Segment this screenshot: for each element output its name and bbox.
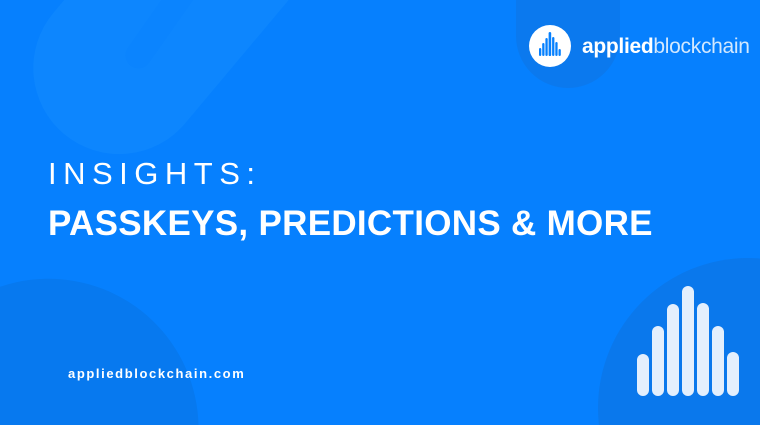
bar-chart-pyramid-icon <box>637 286 738 396</box>
decor-bar-1 <box>637 354 649 396</box>
decor-bar-3 <box>667 304 679 396</box>
eyebrow-label: INSIGHTS: <box>48 158 653 191</box>
brand-wordmark-bold: applied <box>582 35 653 58</box>
insights-banner: appliedblockchain INSIGHTS: PASSKEYS, PR… <box>0 0 760 425</box>
bar-chart-pyramid-icon <box>529 25 571 67</box>
headline-block: INSIGHTS: PASSKEYS, PREDICTIONS & MORE <box>48 158 653 243</box>
decor-bar-4 <box>682 286 694 396</box>
brand-wordmark: appliedblockchain <box>582 36 750 57</box>
decor-rounded-bar-top-left-thin <box>120 0 227 73</box>
decor-bar-7 <box>727 352 739 396</box>
site-url[interactable]: appliedblockchain.com <box>68 366 245 381</box>
decor-blob-bottom-left <box>0 240 238 425</box>
brand-logo[interactable]: appliedblockchain <box>529 25 750 67</box>
decor-bar-2 <box>652 326 664 396</box>
decor-bar-5 <box>697 303 709 396</box>
brand-wordmark-light: blockchain <box>653 35 749 58</box>
page-title: PASSKEYS, PREDICTIONS & MORE <box>48 205 653 244</box>
decor-bar-6 <box>712 326 724 396</box>
